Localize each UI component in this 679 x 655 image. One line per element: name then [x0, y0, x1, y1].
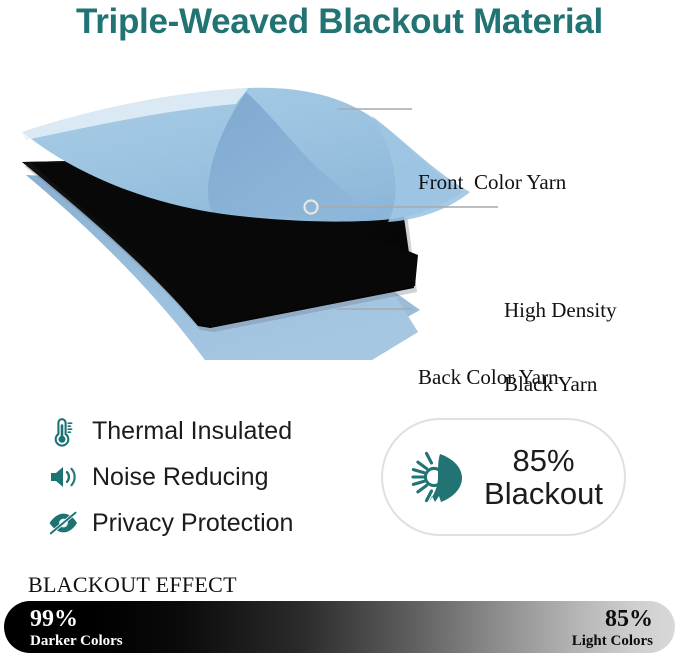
feature-list: Thermal Insulated Noise Reducing Privacy…: [44, 408, 364, 546]
feature-label-noise-reducing: Noise Reducing: [92, 463, 269, 492]
page-title: Triple-Weaved Blackout Material: [0, 2, 679, 42]
darker-colors-percent: 99%: [30, 607, 123, 632]
gradient-bar-left-block: 99% Darker Colors: [30, 607, 123, 650]
eye-slash-icon: [44, 504, 82, 542]
darker-colors-label: Darker Colors: [30, 632, 123, 650]
blackout-effect-title: BLACKOUT EFFECT: [28, 572, 237, 598]
blackout-effect-gradient-bar: 99% Darker Colors 85% Light Colors: [4, 601, 675, 653]
feature-label-thermal-insulated: Thermal Insulated: [92, 417, 292, 446]
light-colors-label: Light Colors: [572, 632, 653, 650]
label-high-density-black-yarn: High Density Black Yarn: [504, 248, 617, 446]
badge-percent: 85%: [484, 444, 603, 477]
badge-text-block: 85% Blackout: [484, 444, 603, 511]
speaker-icon: [44, 458, 82, 496]
feature-label-privacy-protection: Privacy Protection: [92, 509, 293, 538]
thermometer-icon: [44, 412, 82, 450]
blackout-badge: 85% Blackout: [381, 418, 626, 536]
label-front-color-yarn: Front Color Yarn: [418, 170, 566, 195]
feature-item-privacy-protection: Privacy Protection: [44, 500, 364, 546]
gradient-bar-right-block: 85% Light Colors: [572, 607, 653, 650]
light-colors-percent: 85%: [572, 607, 653, 632]
feature-item-noise-reducing: Noise Reducing: [44, 454, 364, 500]
label-back-color-yarn: Back Color Yarn: [418, 365, 559, 390]
fabric-layer-diagram: Front Color Yarn High Density Black Yarn…: [0, 70, 679, 360]
badge-word: Blackout: [484, 477, 603, 510]
feature-item-thermal-insulated: Thermal Insulated: [44, 408, 364, 454]
sun-blocked-icon: [404, 440, 478, 514]
label-high-density-line1: High Density: [504, 298, 617, 323]
